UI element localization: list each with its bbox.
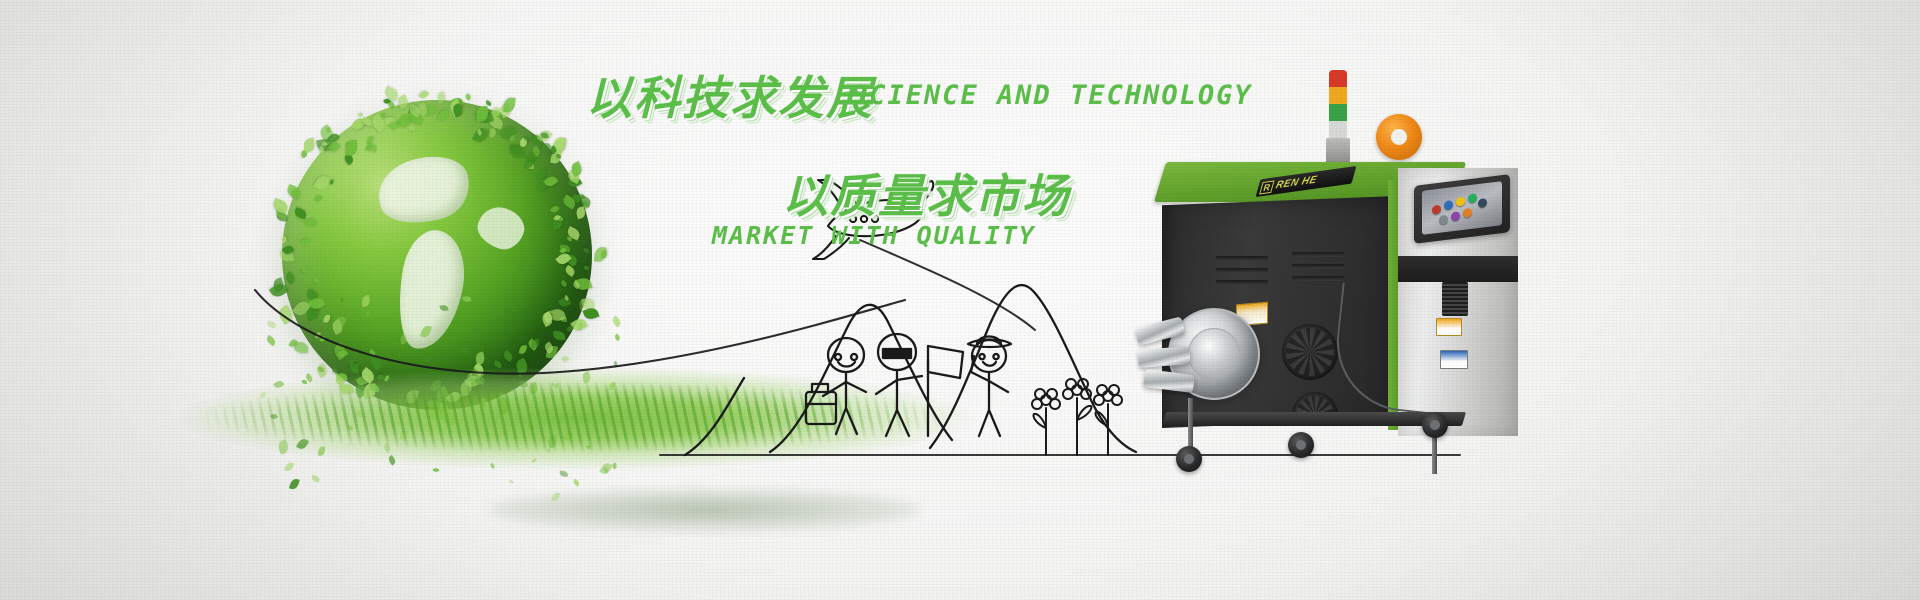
leaf: [561, 355, 569, 363]
leaf: [271, 198, 289, 214]
panel-button[interactable]: [1439, 215, 1448, 225]
tower-lamp-segment: [1329, 104, 1347, 121]
leaf: [584, 266, 589, 270]
falling-leaf: [312, 476, 321, 483]
caster-wheel: [1176, 446, 1202, 472]
vent-slot: [1216, 268, 1268, 273]
panel-button[interactable]: [1451, 211, 1460, 221]
leaf: [503, 96, 516, 112]
vent-slot: [1216, 280, 1268, 285]
falling-leaf: [265, 335, 277, 346]
panel-button[interactable]: [1468, 193, 1477, 203]
falling-leaf: [289, 478, 300, 491]
leaf: [583, 248, 590, 253]
industrial-machine: R REN HE: [1140, 60, 1560, 480]
signal-tower-base: [1326, 138, 1350, 164]
brand-mark-icon: R: [1259, 180, 1274, 194]
cabinet-band: [1398, 256, 1518, 282]
globe-illustration: [250, 85, 640, 405]
panel-button[interactable]: [1463, 208, 1472, 218]
slogan-1-chinese: 以科技求发展: [586, 62, 874, 128]
panel-button[interactable]: [1432, 205, 1441, 215]
flight-path: [860, 240, 1035, 330]
brand-name-label: REN HE: [1274, 174, 1318, 191]
leaf: [593, 247, 606, 263]
doodle-flowers: [1032, 379, 1122, 455]
falling-leaf: [509, 480, 513, 483]
falling-leaf: [613, 334, 621, 342]
tower-lamp-segment: [1329, 70, 1347, 87]
tower-lamp-segment: [1329, 87, 1347, 104]
cooling-fan: [1282, 324, 1338, 380]
vent-slot: [1216, 256, 1268, 261]
panel-button[interactable]: [1456, 197, 1465, 207]
vent-slot: [1292, 252, 1344, 257]
falling-leaf: [567, 324, 575, 332]
leaf: [294, 342, 308, 353]
hub-center: [1188, 328, 1240, 380]
falling-leaf: [611, 315, 623, 327]
panel-button[interactable]: [1478, 198, 1487, 208]
falling-leaf: [572, 478, 581, 486]
vent-slot: [1292, 276, 1344, 281]
banner-root: 以科技求发展 SCIENCE AND TECHNOLOGY 以质量求市场 MAR…: [0, 0, 1920, 600]
panel-button[interactable]: [1444, 200, 1453, 210]
leaf: [302, 138, 315, 154]
leaf: [465, 94, 473, 101]
cart-leg: [1188, 398, 1193, 452]
tower-lamp-segment: [1329, 121, 1347, 138]
vent-slot: [1292, 264, 1344, 269]
leaf: [523, 135, 529, 140]
cart-frame: [1162, 412, 1466, 426]
orange-cable-reel: [1376, 114, 1422, 160]
slogan-2-chinese: 以质量求市场: [782, 160, 1070, 226]
falling-leaf: [266, 320, 275, 327]
continent-shape: [372, 148, 477, 232]
signal-tower-light: [1329, 70, 1347, 138]
nozzle-pipe: [1137, 346, 1190, 368]
falling-leaf: [613, 361, 620, 368]
caster-wheel: [1422, 412, 1448, 438]
continent-shape: [473, 201, 530, 254]
slogan-2-english: MARKET WITH QUALITY: [712, 221, 1036, 250]
caster-wheel: [1288, 432, 1314, 458]
grass-blades: [195, 382, 955, 452]
